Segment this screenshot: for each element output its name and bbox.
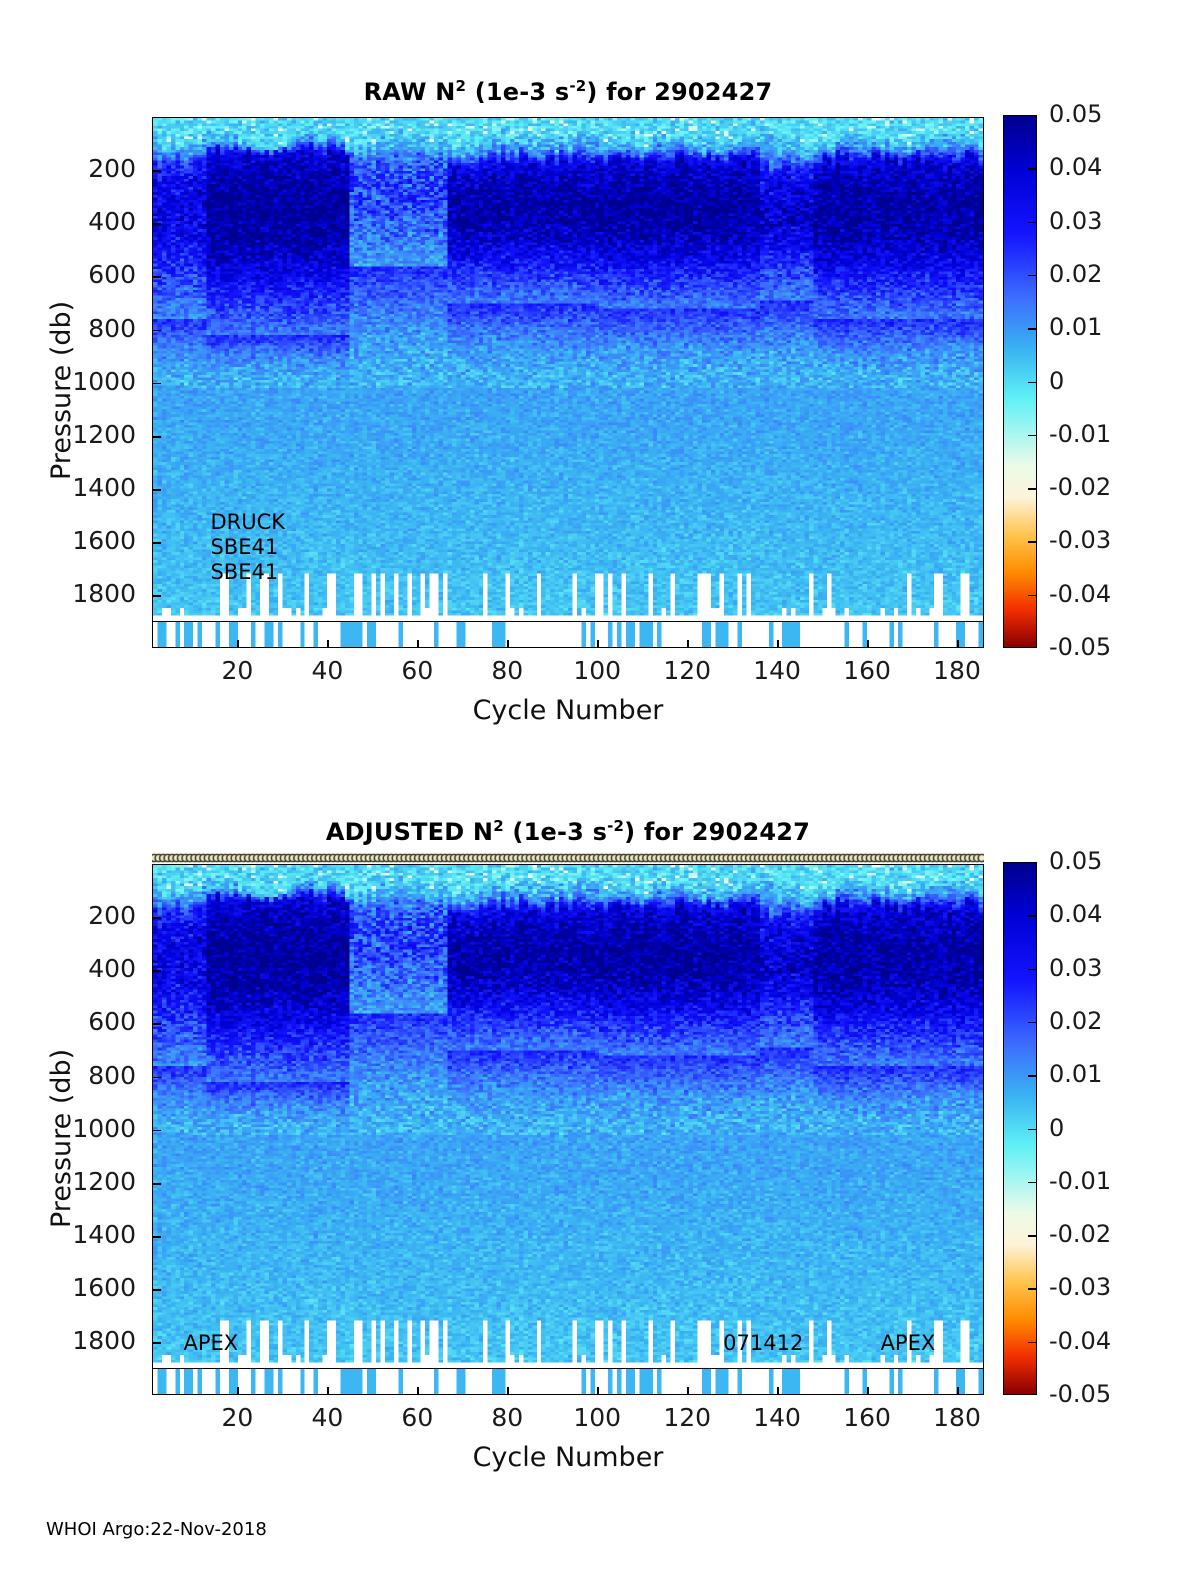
colorbar-tick-label: 0.01 — [1049, 313, 1102, 341]
plot-annotation: SBE41 — [210, 560, 278, 584]
colorbar-tick-mark — [1028, 382, 1037, 384]
colorbar-tick-label: -0.01 — [1049, 420, 1111, 448]
footer-credit: WHOI Argo:22-Nov-2018 — [46, 1519, 267, 1540]
colorbar-tick-label: -0.02 — [1049, 1220, 1111, 1248]
colorbar-tick-label: 0.03 — [1049, 207, 1102, 235]
colorbar-tick-label: 0.02 — [1049, 260, 1102, 288]
x-tick-label: 60 — [372, 1403, 462, 1432]
colorbar-tick-mark — [1028, 969, 1037, 971]
plot-annotation: APEX — [881, 1331, 936, 1355]
colorbar-tick-mark — [1028, 328, 1037, 330]
heatmap-axes-adjusted — [152, 864, 984, 1369]
x-tick-label: 140 — [732, 1403, 822, 1432]
x-tick-label: 80 — [462, 656, 552, 685]
y-tick-label: 600 — [0, 1007, 136, 1036]
y-tick-mark — [152, 1130, 161, 1132]
colorbar-tick-mark — [1028, 1235, 1037, 1237]
x-tick-label: 80 — [462, 1403, 552, 1432]
colorbar-tick-label: -0.05 — [1049, 1380, 1111, 1408]
y-tick-label: 200 — [0, 901, 136, 930]
x-tick-label: 60 — [372, 656, 462, 685]
x-tick-label: 40 — [282, 656, 372, 685]
colorbar-tick-mark — [1028, 1342, 1037, 1344]
x-tick-label: 100 — [552, 656, 642, 685]
colorbar-tick-label: -0.02 — [1049, 473, 1111, 501]
coverage-strip-raw — [152, 622, 984, 648]
colorbar-tick-label: -0.04 — [1049, 580, 1111, 608]
argo-n2-figure: RAW N2 (1e-3 s-2) for 2902427 2004006008… — [0, 0, 1200, 1575]
x-tick-mark — [237, 1387, 239, 1395]
colorbar-tick-label: -0.01 — [1049, 1167, 1111, 1195]
y-tick-mark — [152, 595, 161, 597]
y-tick-mark — [152, 1183, 161, 1185]
colorbar-tick-mark — [1028, 541, 1037, 543]
x-tick-label: 140 — [732, 656, 822, 685]
x-tick-label: 160 — [822, 1403, 912, 1432]
x-axis-label-raw: Cycle Number — [152, 695, 984, 726]
x-tick-mark — [597, 640, 599, 648]
x-tick-mark — [327, 1387, 329, 1395]
y-tick-mark — [152, 276, 161, 278]
y-tick-mark — [152, 170, 161, 172]
colorbar-tick-label: -0.03 — [1049, 1273, 1111, 1301]
colorbar-tick-mark — [1028, 915, 1037, 917]
colorbar-tick-mark — [1028, 1129, 1037, 1131]
panel-raw-title: RAW N2 (1e-3 s-2) for 2902427 — [152, 78, 984, 106]
y-axis-label-raw: Pressure (db) — [46, 301, 77, 480]
x-tick-label: 160 — [822, 656, 912, 685]
x-tick-mark — [597, 1387, 599, 1395]
colorbar-tick-mark — [1028, 595, 1037, 597]
y-tick-label: 1600 — [0, 1273, 136, 1302]
x-tick-mark — [417, 1387, 419, 1395]
colorbar-tick-label: 0.04 — [1049, 900, 1102, 928]
colorbar-tick-mark — [1028, 275, 1037, 277]
y-tick-label: 400 — [0, 207, 136, 236]
panel-adjusted-title: ADJUSTED N2 (1e-3 s-2) for 2902427 — [152, 818, 984, 846]
y-tick-mark — [152, 1023, 161, 1025]
y-tick-mark — [152, 1342, 161, 1344]
y-tick-mark — [152, 970, 161, 972]
x-tick-mark — [687, 640, 689, 648]
colorbar-tick-label: -0.03 — [1049, 526, 1111, 554]
x-tick-label: 180 — [912, 656, 1002, 685]
colorbar-tick-mark — [1028, 488, 1037, 490]
y-tick-mark — [152, 917, 161, 919]
x-tick-mark — [777, 1387, 779, 1395]
x-tick-mark — [507, 640, 509, 648]
y-tick-label: 400 — [0, 954, 136, 983]
y-tick-label: 200 — [0, 154, 136, 183]
x-tick-mark — [417, 640, 419, 648]
y-tick-mark — [152, 1236, 161, 1238]
y-tick-label: 600 — [0, 260, 136, 289]
colorbar-tick-mark — [1028, 1288, 1037, 1290]
colorbar-tick-label: 0.05 — [1049, 100, 1102, 128]
x-tick-label: 40 — [282, 1403, 372, 1432]
x-tick-label: 20 — [192, 656, 282, 685]
x-tick-mark — [957, 640, 959, 648]
x-tick-mark — [957, 1387, 959, 1395]
x-tick-mark — [687, 1387, 689, 1395]
y-tick-mark — [152, 223, 161, 225]
x-tick-mark — [237, 640, 239, 648]
coverage-strip-adjusted — [152, 1369, 984, 1395]
x-tick-label: 120 — [642, 1403, 732, 1432]
colorbar-tick-label: 0 — [1049, 367, 1064, 395]
y-tick-mark — [152, 1289, 161, 1291]
plot-annotation: SBE41 — [210, 535, 278, 559]
x-tick-mark — [327, 640, 329, 648]
y-tick-label: 1600 — [0, 526, 136, 555]
y-tick-mark — [152, 1077, 161, 1079]
x-tick-label: 120 — [642, 656, 732, 685]
x-tick-mark — [777, 640, 779, 648]
y-tick-mark — [152, 489, 161, 491]
colorbar-tick-label: 0.02 — [1049, 1007, 1102, 1035]
colorbar-tick-label: 0.05 — [1049, 847, 1102, 875]
colorbar-tick-mark — [1028, 1022, 1037, 1024]
y-tick-mark — [152, 436, 161, 438]
y-tick-mark — [152, 383, 161, 385]
x-tick-label: 100 — [552, 1403, 642, 1432]
colorbar-tick-label: 0.03 — [1049, 954, 1102, 982]
colorbar-tick-mark — [1028, 1182, 1037, 1184]
plot-annotation: 071412 — [723, 1331, 803, 1355]
colorbar-tick-mark — [1028, 1075, 1037, 1077]
colorbar-tick-label: 0 — [1049, 1114, 1064, 1142]
plot-annotation: DRUCK — [210, 510, 285, 534]
colorbar-tick-label: -0.04 — [1049, 1327, 1111, 1355]
y-tick-mark — [152, 542, 161, 544]
colorbar-tick-mark — [1028, 168, 1037, 170]
heatmap-adjusted — [153, 865, 983, 1368]
y-tick-label: 1800 — [0, 579, 136, 608]
plot-annotation: APEX — [183, 1331, 238, 1355]
x-tick-label: 180 — [912, 1403, 1002, 1432]
colorbar-tick-label: -0.05 — [1049, 633, 1111, 661]
x-tick-label: 20 — [192, 1403, 282, 1432]
colorbar-tick-label: 0.01 — [1049, 1060, 1102, 1088]
colorbar-tick-label: 0.04 — [1049, 153, 1102, 181]
x-tick-mark — [867, 640, 869, 648]
x-tick-mark — [507, 1387, 509, 1395]
y-axis-label-adjusted: Pressure (db) — [46, 1049, 77, 1228]
colorbar-tick-mark — [1028, 435, 1037, 437]
colorbar-tick-mark — [1028, 222, 1037, 224]
y-tick-mark — [152, 330, 161, 332]
x-tick-mark — [867, 1387, 869, 1395]
x-axis-label-adjusted: Cycle Number — [152, 1442, 984, 1473]
y-tick-label: 1800 — [0, 1326, 136, 1355]
